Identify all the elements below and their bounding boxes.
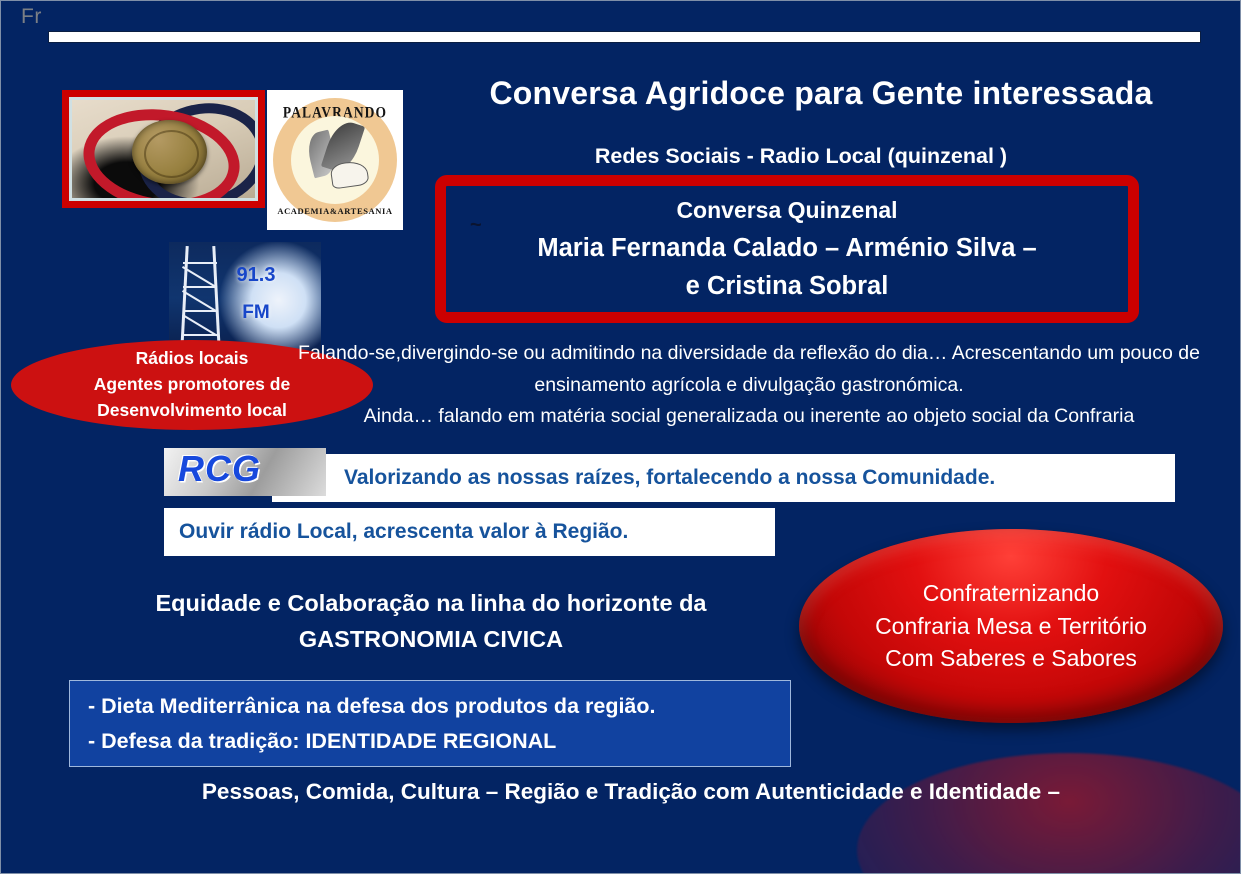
radios-locais-line2: Agentes promotores de [94, 372, 290, 398]
radios-locais-line1: Rádios locais [136, 346, 249, 372]
radio-band-label: FM [169, 302, 321, 324]
rcg-wordmark: RCG [178, 448, 261, 490]
conversa-quinzenal-heading: Conversa Quinzenal [676, 193, 897, 229]
equidade-heading: Equidade e Colaboração na linha do horiz… [66, 586, 796, 657]
equidade-line-2: GASTRONOMIA CIVICA [66, 622, 796, 658]
paragraph-line-1: Falando-se,divergindo-se ou admitindo na… [298, 342, 1082, 364]
equidade-line-1: Equidade e Colaboração na linha do horiz… [66, 586, 796, 622]
presentation-slide: Fr PALAVRANDO ACADEMIA&ARTESANIA [0, 0, 1241, 874]
dieta-mediterranica-box: - Dieta Mediterrânica na defesa dos prod… [69, 680, 791, 767]
conversa-quinzenal-box: ~ Conversa Quinzenal Maria Fernanda Cala… [435, 175, 1139, 323]
radios-locais-line3: Desenvolvimento local [97, 398, 287, 424]
conversa-quinzenal-hosts-2: e Cristina Sobral [686, 267, 889, 305]
ouvir-radio-text: Ouvir rádio Local, acrescenta valor à Re… [179, 520, 628, 544]
ellipse-shadow-decoration [857, 753, 1241, 874]
radio-frequency-label: 91.3 [169, 264, 321, 287]
confraria-medal-image [62, 90, 265, 208]
radio-tower-icon [181, 246, 223, 350]
ouvir-radio-box: Ouvir rádio Local, acrescenta valor à Re… [164, 508, 775, 556]
fr-label: Fr [21, 5, 42, 29]
footer-tagline: Pessoas, Comida, Cultura – Região e Trad… [121, 779, 1141, 805]
dieta-bullet-1: - Dieta Mediterrânica na defesa dos prod… [88, 689, 790, 724]
confraternizando-callout: Confraternizando Confraria Mesa e Territ… [799, 529, 1223, 723]
dieta-bullet-2: - Defesa da tradição: IDENTIDADE REGIONA… [88, 724, 790, 759]
description-paragraph: Falando-se,divergindo-se ou admitindo na… [277, 338, 1221, 433]
valorizando-box: Valorizando as nossas raízes, fortalecen… [272, 454, 1175, 502]
confraternizando-line-3: Com Saberes e Sabores [885, 642, 1137, 675]
confraternizando-line-2: Confraria Mesa e Território [875, 610, 1147, 643]
conversa-quinzenal-hosts-1: Maria Fernanda Calado – Arménio Silva – [537, 229, 1036, 267]
conversa-quinzenal-content: Conversa Quinzenal Maria Fernanda Calado… [446, 186, 1128, 312]
medal-photo-inner [72, 100, 255, 198]
palavrando-disc: PALAVRANDO ACADEMIA&ARTESANIA [273, 98, 397, 222]
header-rule [48, 31, 1201, 43]
paragraph-line-3: Ainda… falando em matéria social general… [277, 401, 1221, 433]
valorizando-text: Valorizando as nossas raízes, fortalecen… [344, 466, 995, 490]
medal-coin [132, 120, 207, 185]
rcg-logo-image: RCG [164, 448, 326, 496]
confraternizando-line-1: Confraternizando [923, 577, 1099, 610]
palavrando-emblem [291, 116, 379, 204]
page-title: Conversa Agridoce para Gente interessada [421, 75, 1221, 112]
palavrando-logo: PALAVRANDO ACADEMIA&ARTESANIA [267, 90, 403, 230]
palavrando-subtitle: ACADEMIA&ARTESANIA [273, 206, 397, 216]
page-subtitle: Redes Sociais - Radio Local (quinzenal ) [421, 144, 1181, 169]
